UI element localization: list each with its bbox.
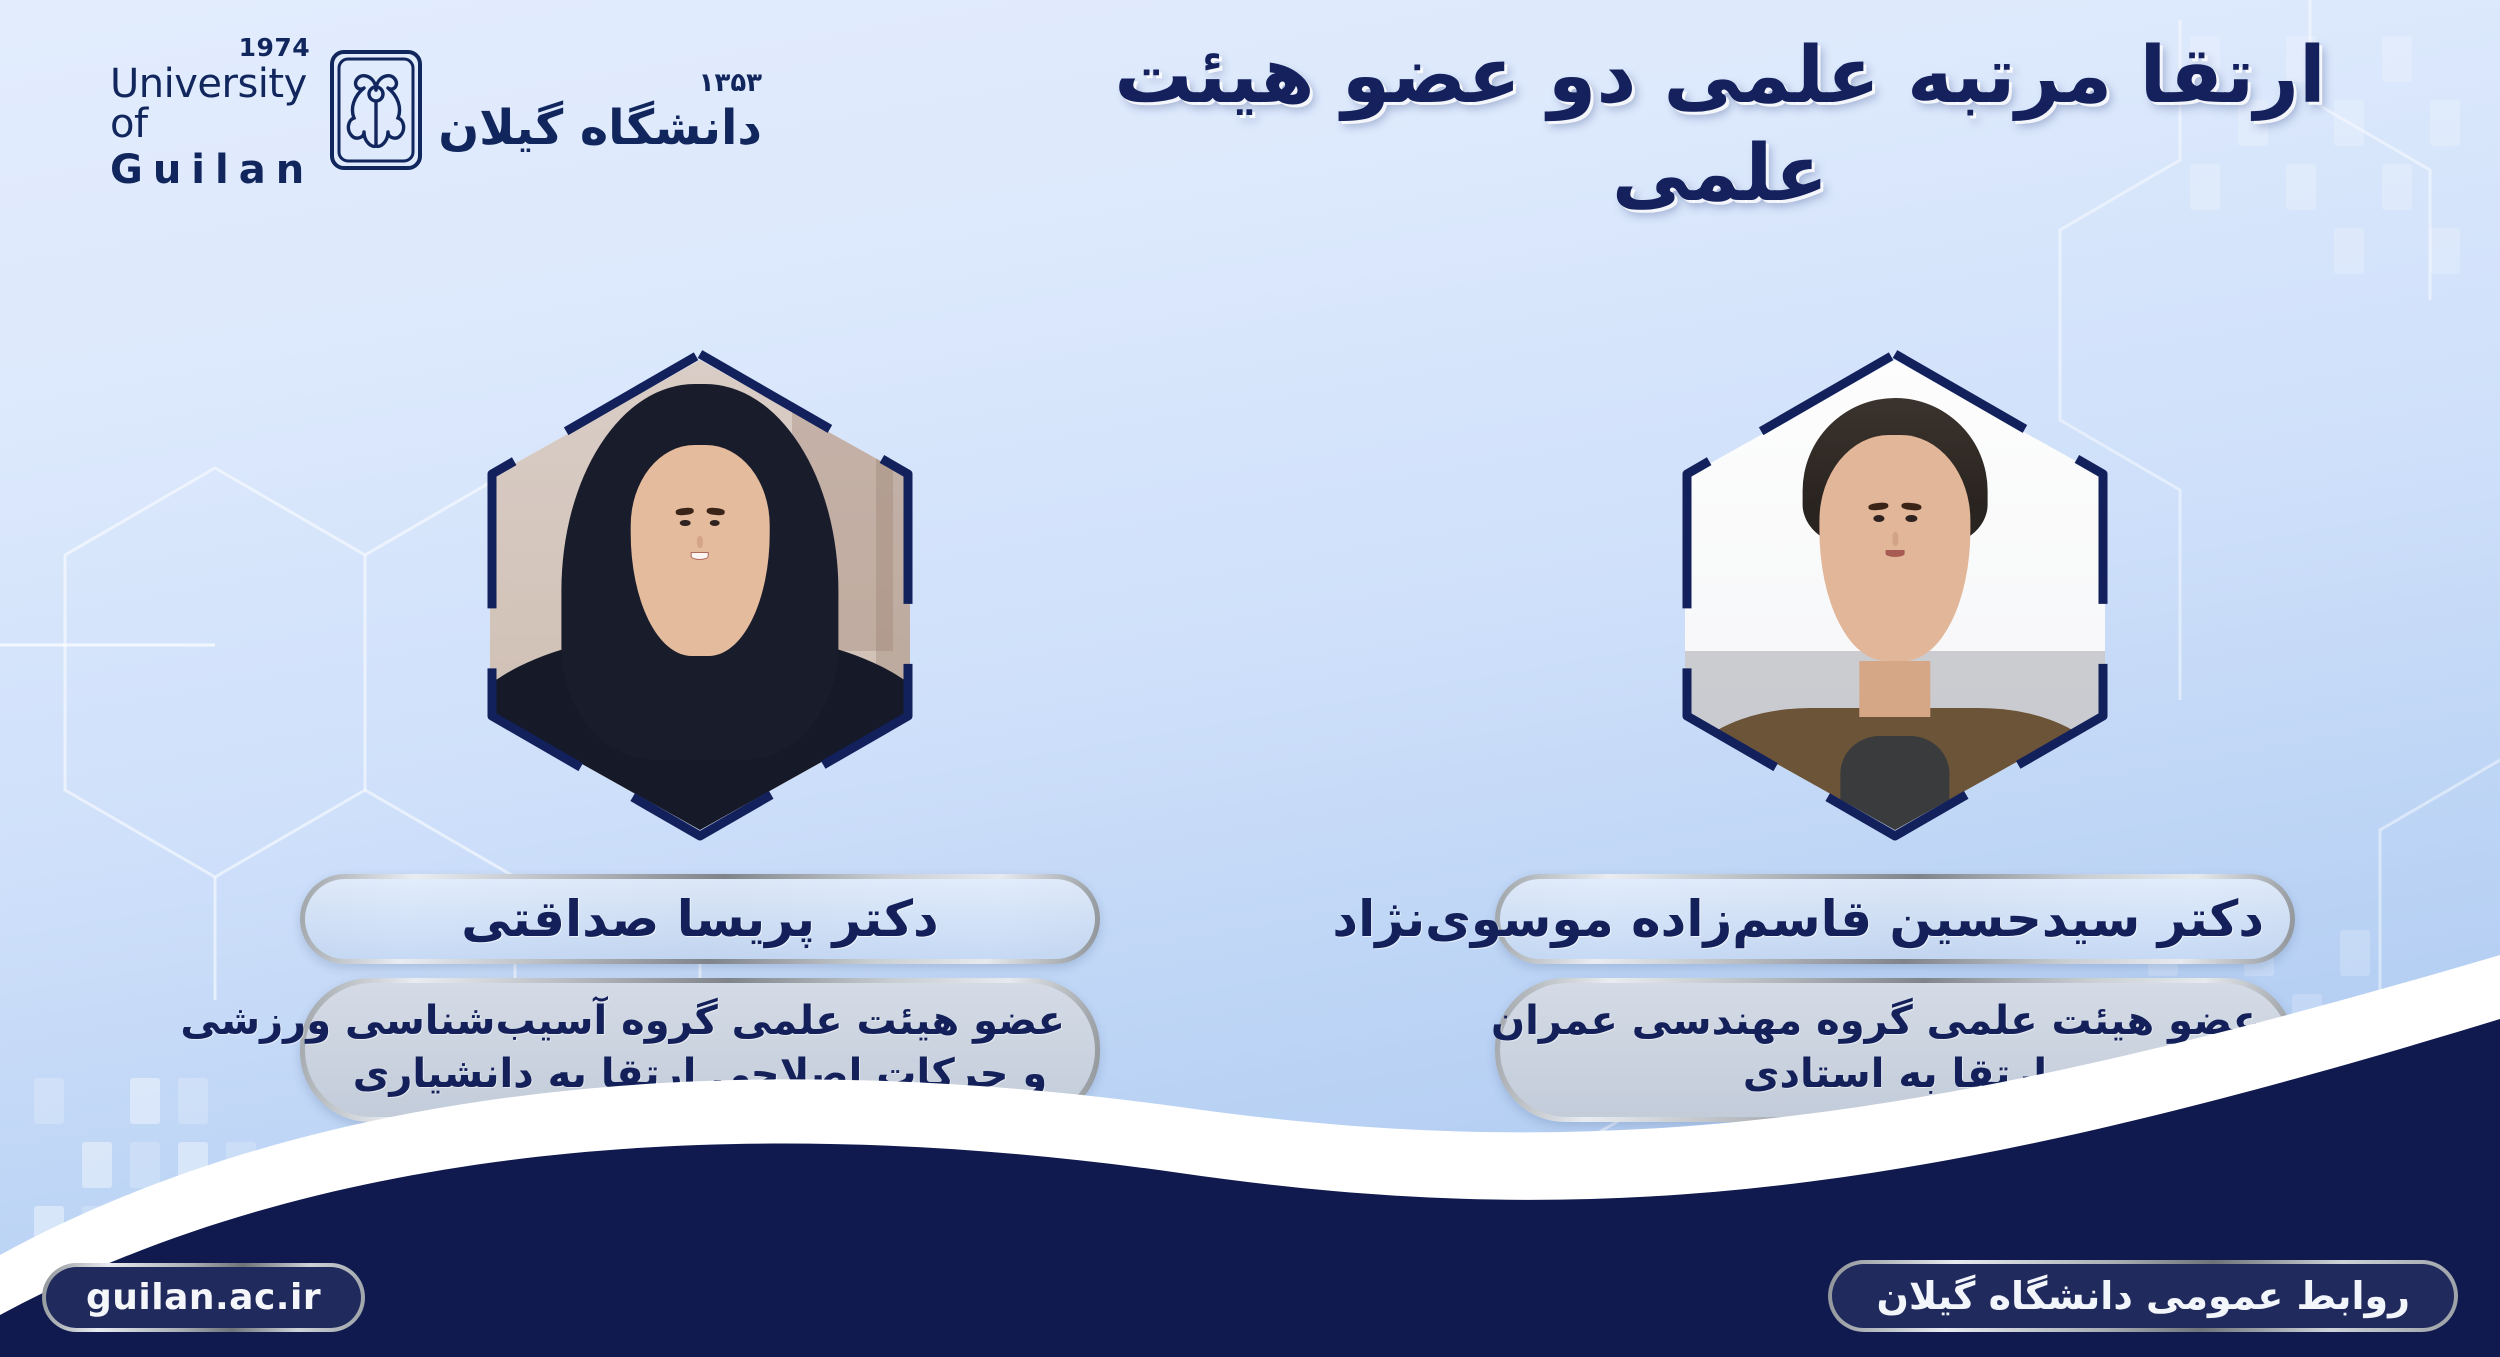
logo-year-en: 1974	[239, 35, 311, 60]
poster-canvas: 1974 University of Guilan ۱۳۵۳ دانشگاه گ…	[0, 0, 2500, 1357]
public-relations-chip: روابط عمومی دانشگاه گیلان	[1828, 1260, 2458, 1332]
hexagon-outline-icon	[476, 346, 924, 844]
website-url[interactable]: guilan.ac.ir	[46, 1267, 361, 1328]
photo-frame-female	[490, 360, 910, 830]
logo-english-block: 1974 University of Guilan	[110, 35, 314, 190]
page-title: ارتقا مرتبه علمی دو عضو هیئت علمی	[1050, 28, 2390, 223]
logo-persian-block: ۱۳۵۳ دانشگاه گیلان	[438, 68, 762, 156]
guilan-emblem-icon	[328, 48, 424, 176]
website-url-chip[interactable]: guilan.ac.ir	[42, 1263, 365, 1332]
public-relations-label: روابط عمومی دانشگاه گیلان	[1832, 1264, 2454, 1328]
logo-year-fa: ۱۳۵۳	[699, 68, 762, 98]
logo-guilan-word: Guilan	[110, 150, 314, 190]
university-logo: 1974 University of Guilan ۱۳۵۳ دانشگاه گ…	[110, 52, 550, 172]
hexagon-outline-icon	[1671, 346, 2119, 844]
logo-persian-name: دانشگاه گیلان	[438, 100, 762, 156]
logo-university-word: University of	[110, 64, 314, 144]
photo-frame-male	[1685, 360, 2105, 830]
